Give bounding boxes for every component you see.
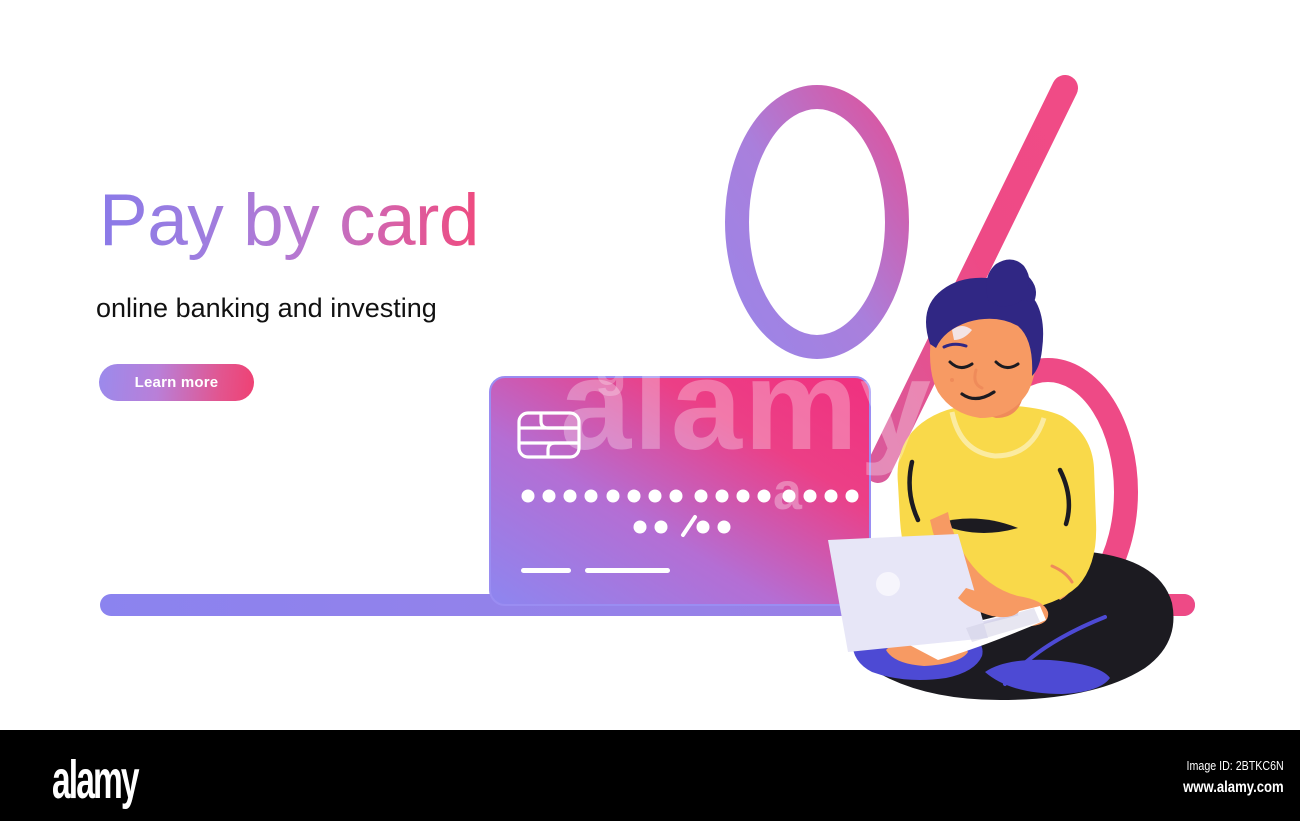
footer-meta: Image ID: 2BTKC6N www.alamy.com	[1161, 757, 1284, 799]
learn-more-button[interactable]: Learn more	[99, 364, 254, 401]
screenshot-root: alamy a g Pay by card online banking and…	[0, 0, 1300, 821]
website-label[interactable]: www.alamy.com	[1183, 777, 1284, 799]
percent-top-ring	[737, 97, 897, 347]
alamy-logo: alamy	[52, 752, 138, 808]
page-title: Pay by card	[99, 178, 479, 264]
page-subtitle: online banking and investing	[96, 291, 437, 325]
credit-card	[490, 377, 870, 605]
card-name-lines	[521, 568, 670, 573]
laptop-logo-icon	[876, 572, 900, 596]
image-id-label: Image ID: 2BTKC6N	[1183, 757, 1284, 775]
stock-footer-bar: alamy Image ID: 2BTKC6N www.alamy.com	[0, 730, 1300, 821]
